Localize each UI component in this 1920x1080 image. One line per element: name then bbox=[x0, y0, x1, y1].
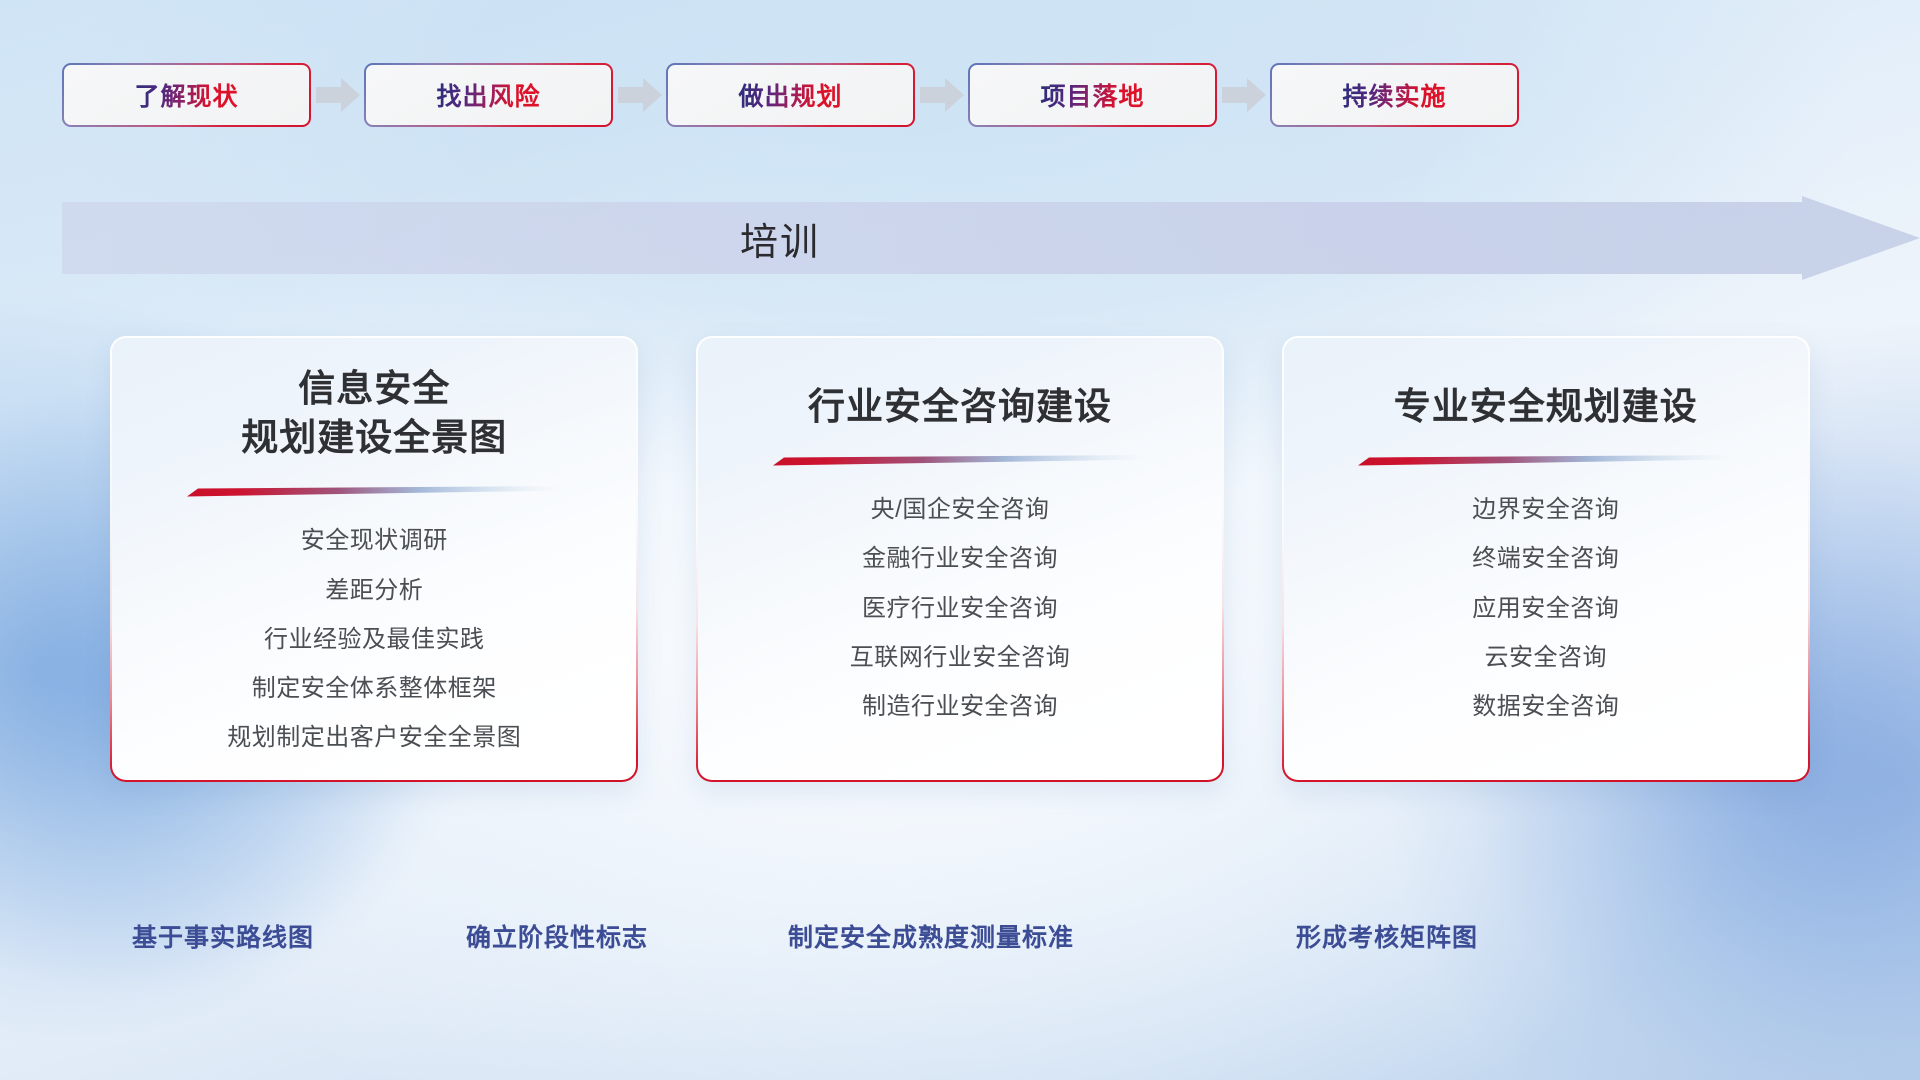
card-1-item-1: 金融行业安全咨询 bbox=[862, 538, 1058, 579]
card-1[interactable]: 行业安全咨询建设 bbox=[696, 336, 1224, 782]
card-1-item-3: 互联网行业安全咨询 bbox=[850, 637, 1071, 678]
card-0-items: 安全现状调研 差距分析 行业经验及最佳实践 制定安全体系整体框架 规划制定出客户… bbox=[112, 520, 636, 758]
footer-label-row: 基于事实路线图 确立阶段性标志 制定安全成熟度测量标准 形成考核矩阵图 bbox=[0, 910, 1920, 970]
card-0-item-0: 安全现状调研 bbox=[301, 520, 448, 561]
process-step-0-label: 了解现状 bbox=[134, 77, 238, 113]
card-1-item-0: 央/国企安全咨询 bbox=[871, 489, 1050, 530]
card-2-items: 边界安全咨询 终端安全咨询 应用安全咨询 云安全咨询 数据安全咨询 bbox=[1284, 489, 1808, 727]
card-1-title: 行业安全咨询建设 bbox=[808, 382, 1112, 431]
card-2-title: 专业安全规划建设 bbox=[1394, 382, 1698, 431]
process-step-4[interactable]: 持续实施 bbox=[1270, 63, 1519, 127]
process-step-row: 了解现状 找出风险 做出规划 bbox=[62, 62, 1920, 128]
card-0[interactable]: 信息安全 规划建设全景图 bbox=[110, 336, 638, 782]
card-0-title: 信息安全 规划建设全景图 bbox=[241, 364, 507, 462]
card-slot-2: 专业安全规划建设 bbox=[1282, 336, 1810, 782]
slide-canvas: 了解现状 找出风险 做出规划 bbox=[0, 0, 1920, 1080]
process-step-1[interactable]: 找出风险 bbox=[364, 63, 613, 127]
process-step-1-inner: 找出风险 bbox=[366, 65, 611, 125]
footer-label-0: 基于事实路线图 bbox=[132, 918, 314, 954]
process-step-0[interactable]: 了解现状 bbox=[62, 63, 311, 127]
card-slot-1: 行业安全咨询建设 bbox=[696, 336, 1224, 782]
chevron-right-icon bbox=[1217, 75, 1270, 115]
card-2[interactable]: 专业安全规划建设 bbox=[1282, 336, 1810, 782]
card-0-item-2: 行业经验及最佳实践 bbox=[264, 619, 485, 660]
process-step-4-inner: 持续实施 bbox=[1272, 65, 1517, 125]
card-2-item-3: 云安全咨询 bbox=[1485, 637, 1608, 678]
process-step-2-label: 做出规划 bbox=[738, 77, 842, 113]
chevron-right-icon bbox=[613, 75, 666, 115]
card-0-inner: 信息安全 规划建设全景图 bbox=[112, 338, 636, 780]
chevron-right-icon bbox=[311, 75, 364, 115]
process-step-4-label: 持续实施 bbox=[1342, 77, 1446, 113]
card-0-item-3: 制定安全体系整体框架 bbox=[252, 668, 497, 709]
card-1-items: 央/国企安全咨询 金融行业安全咨询 医疗行业安全咨询 互联网行业安全咨询 制造行… bbox=[698, 489, 1222, 727]
tapered-gradient-rule-icon bbox=[773, 453, 1148, 467]
chevron-right-icon bbox=[915, 75, 968, 115]
card-2-item-0: 边界安全咨询 bbox=[1472, 489, 1619, 530]
footer-label-1: 确立阶段性标志 bbox=[466, 918, 648, 954]
process-step-2[interactable]: 做出规划 bbox=[666, 63, 915, 127]
card-1-item-2: 医疗行业安全咨询 bbox=[862, 588, 1058, 629]
process-step-3[interactable]: 项目落地 bbox=[968, 63, 1217, 127]
process-step-3-label: 项目落地 bbox=[1040, 77, 1144, 113]
training-banner-shape bbox=[62, 196, 1920, 280]
footer-label-3: 形成考核矩阵图 bbox=[1296, 918, 1478, 954]
card-gap-1 bbox=[1224, 336, 1281, 782]
process-step-1-label: 找出风险 bbox=[436, 77, 540, 113]
process-step-2-inner: 做出规划 bbox=[668, 65, 913, 125]
process-step-3-inner: 项目落地 bbox=[970, 65, 1215, 125]
tapered-gradient-rule-icon bbox=[187, 484, 562, 498]
card-row: 信息安全 规划建设全景图 bbox=[110, 336, 1810, 782]
card-slot-0: 信息安全 规划建设全景图 bbox=[110, 336, 638, 782]
card-2-item-4: 数据安全咨询 bbox=[1472, 686, 1619, 727]
tapered-gradient-rule-icon bbox=[1358, 453, 1733, 467]
card-0-item-4: 规划制定出客户安全全景图 bbox=[227, 717, 521, 758]
card-2-item-1: 终端安全咨询 bbox=[1472, 538, 1619, 579]
card-1-item-4: 制造行业安全咨询 bbox=[862, 686, 1058, 727]
card-2-item-2: 应用安全咨询 bbox=[1472, 588, 1619, 629]
footer-label-2: 制定安全成熟度测量标准 bbox=[788, 918, 1074, 954]
process-step-0-inner: 了解现状 bbox=[64, 65, 309, 125]
card-0-item-1: 差距分析 bbox=[325, 570, 423, 611]
card-2-inner: 专业安全规划建设 bbox=[1284, 338, 1808, 780]
card-1-inner: 行业安全咨询建设 bbox=[698, 338, 1222, 780]
card-gap-0 bbox=[638, 336, 695, 782]
